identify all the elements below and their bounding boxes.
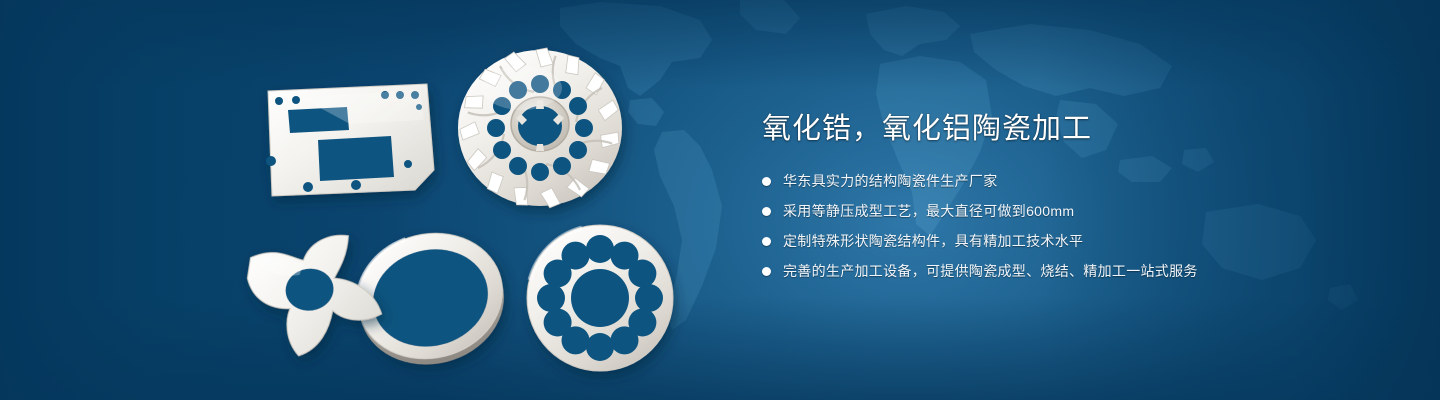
bullet-dot-icon <box>762 237 771 246</box>
list-item: 定制特殊形状陶瓷结构件，具有精加工技术水平 <box>762 230 1382 252</box>
feature-text: 完善的生产加工设备，可提供陶瓷成型、烧结、精加工一站式服务 <box>783 260 1198 282</box>
feature-text: 采用等静压成型工艺，最大直径可做到600mm <box>783 200 1074 222</box>
ceramic-machined-plate <box>266 84 434 196</box>
list-item: 采用等静压成型工艺，最大直径可做到600mm <box>762 200 1382 222</box>
bullet-dot-icon <box>762 177 771 186</box>
banner-text-column: 氧化锆，氧化铝陶瓷加工 华东具实力的结构陶瓷件生产厂家 采用等静压成型工艺，最大… <box>762 110 1382 290</box>
ceramic-cross-vane <box>243 231 386 362</box>
bullet-dot-icon <box>762 207 771 216</box>
ceramic-vaned-impeller <box>458 48 622 209</box>
ceramic-perforated-disc <box>527 225 673 371</box>
feature-text: 华东具实力的结构陶瓷件生产厂家 <box>783 170 998 192</box>
list-item: 华东具实力的结构陶瓷件生产厂家 <box>762 170 1382 192</box>
feature-list: 华东具实力的结构陶瓷件生产厂家 采用等静压成型工艺，最大直径可做到600mm 定… <box>762 170 1382 282</box>
bullet-dot-icon <box>762 267 771 276</box>
ceramic-products-image <box>0 0 720 400</box>
feature-text: 定制特殊形状陶瓷结构件，具有精加工技术水平 <box>783 230 1083 252</box>
list-item: 完善的生产加工设备，可提供陶瓷成型、烧结、精加工一站式服务 <box>762 260 1382 282</box>
ceramic-product-banner: 氧化锆，氧化铝陶瓷加工 华东具实力的结构陶瓷件生产厂家 采用等静压成型工艺，最大… <box>0 0 1440 400</box>
page-title: 氧化锆，氧化铝陶瓷加工 <box>762 110 1382 148</box>
